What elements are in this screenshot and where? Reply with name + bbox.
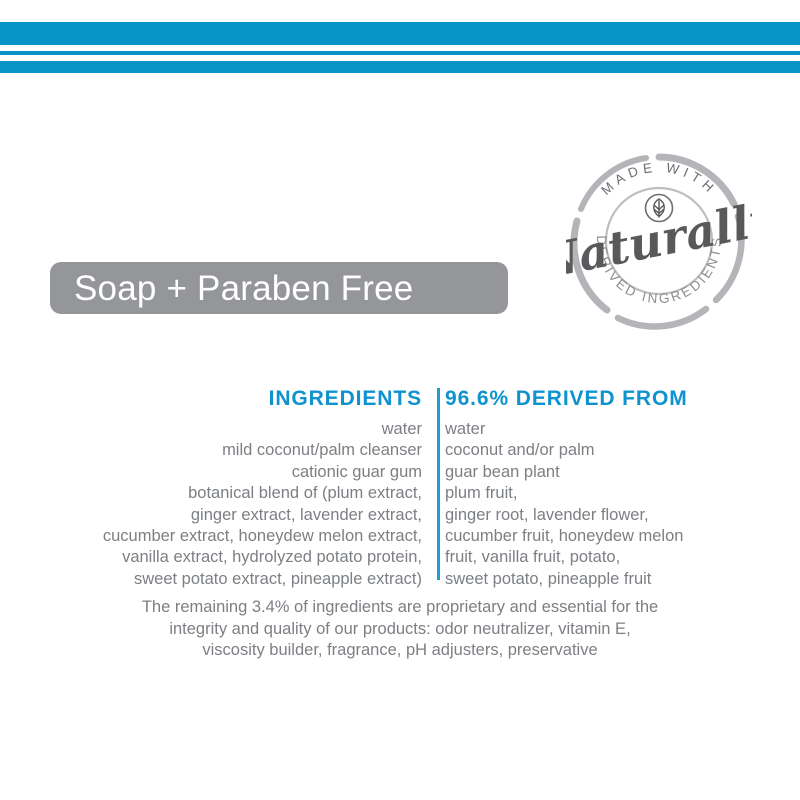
column-divider (437, 388, 440, 580)
list-item: coconut and/or palm (445, 440, 800, 461)
list-item: ginger extract, lavender extract, (0, 505, 422, 526)
list-item: ginger root, lavender flower, (445, 505, 800, 526)
list-item: fruit, vanilla fruit, potato, (445, 547, 800, 568)
list-item: plum fruit, (445, 483, 800, 504)
list-item: guar bean plant (445, 462, 800, 483)
list-item: water (445, 419, 800, 440)
header-stripe-thin (0, 51, 800, 55)
made-with-naturally-seal: MADE WITH DERIVED INGREDIENTS Naturally (566, 148, 752, 334)
list-item: sweet potato extract, pineapple extract) (0, 569, 422, 590)
list-item: cucumber extract, honeydew melon extract… (0, 526, 422, 547)
list-item: botanical blend of (plum extract, (0, 483, 422, 504)
footnote-line: viscosity builder, fragrance, pH adjuste… (100, 640, 700, 662)
list-item: cucumber fruit, honeydew melon (445, 526, 800, 547)
list-item: sweet potato, pineapple fruit (445, 569, 800, 590)
derived-from-heading: 96.6% DERIVED FROM (445, 386, 800, 411)
footnote-line: The remaining 3.4% of ingredients are pr… (100, 597, 700, 619)
list-item: mild coconut/palm cleanser (0, 440, 422, 461)
derived-from-column: 96.6% DERIVED FROM water coconut and/or … (422, 386, 800, 590)
ingredients-list: water mild coconut/palm cleanser cationi… (0, 419, 422, 590)
derived-from-list: water coconut and/or palm guar bean plan… (445, 419, 800, 590)
ingredients-column: INGREDIENTS water mild coconut/palm clea… (0, 386, 422, 590)
ingredients-heading: INGREDIENTS (0, 386, 422, 411)
list-item: vanilla extract, hydrolyzed potato prote… (0, 547, 422, 568)
soap-paraben-free-banner: Soap + Paraben Free (50, 262, 508, 314)
banner-label: Soap + Paraben Free (74, 271, 413, 306)
list-item: water (0, 419, 422, 440)
footnote-line: integrity and quality of our products: o… (100, 619, 700, 641)
list-item: cationic guar gum (0, 462, 422, 483)
remaining-ingredients-footnote: The remaining 3.4% of ingredients are pr… (100, 597, 700, 662)
header-stripe-mid (0, 61, 800, 73)
ingredients-panel: INGREDIENTS water mild coconut/palm clea… (0, 386, 800, 590)
header-stripe-thick (0, 22, 800, 45)
